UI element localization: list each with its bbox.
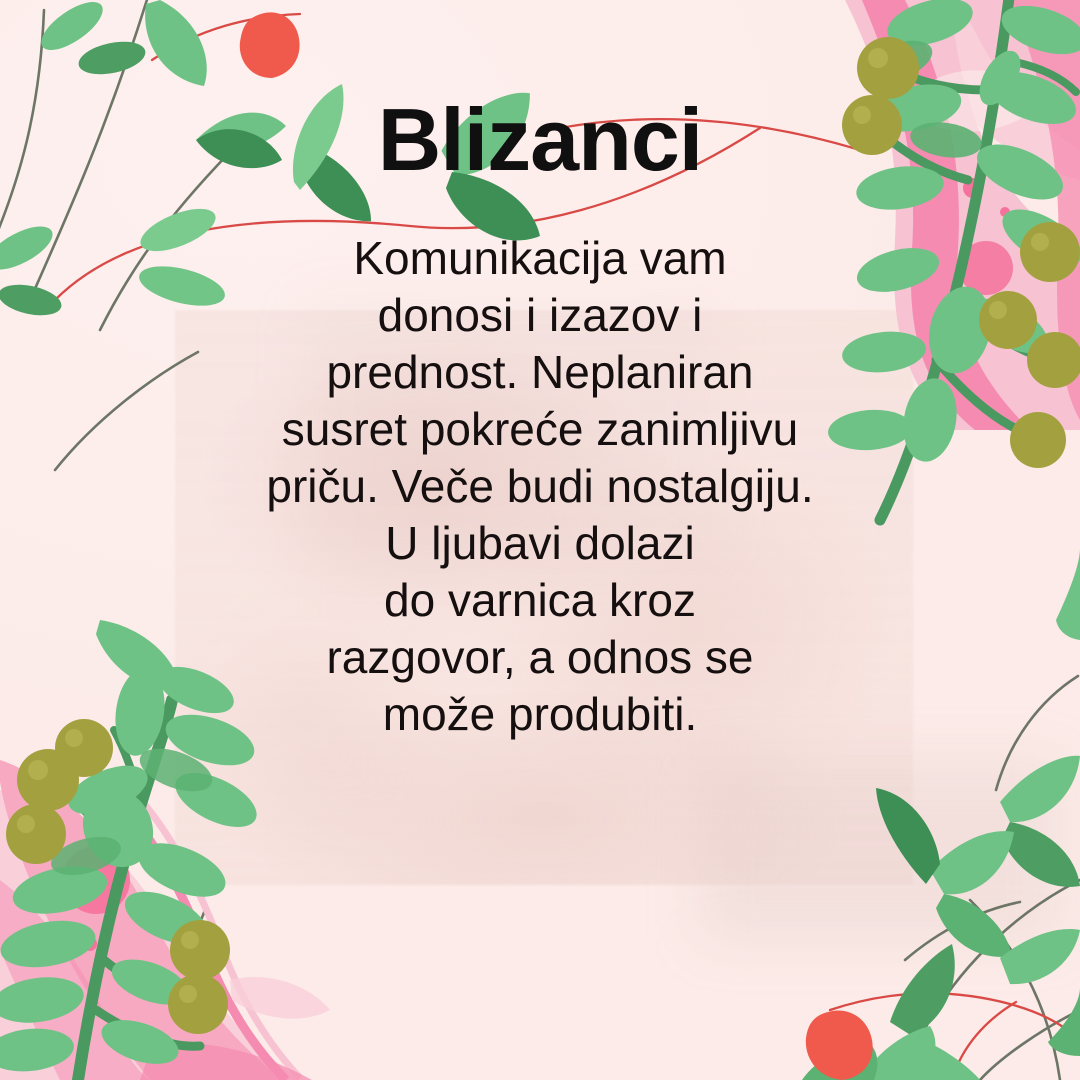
page-title: Blizanci [378, 96, 703, 184]
zodiac-horoscope-card: Blizanci Komunikacija vam donosi i izazo… [0, 0, 1080, 1080]
horoscope-body-text: Komunikacija vam donosi i izazov i predn… [230, 230, 850, 743]
card-content: Blizanci Komunikacija vam donosi i izazo… [0, 0, 1080, 1080]
